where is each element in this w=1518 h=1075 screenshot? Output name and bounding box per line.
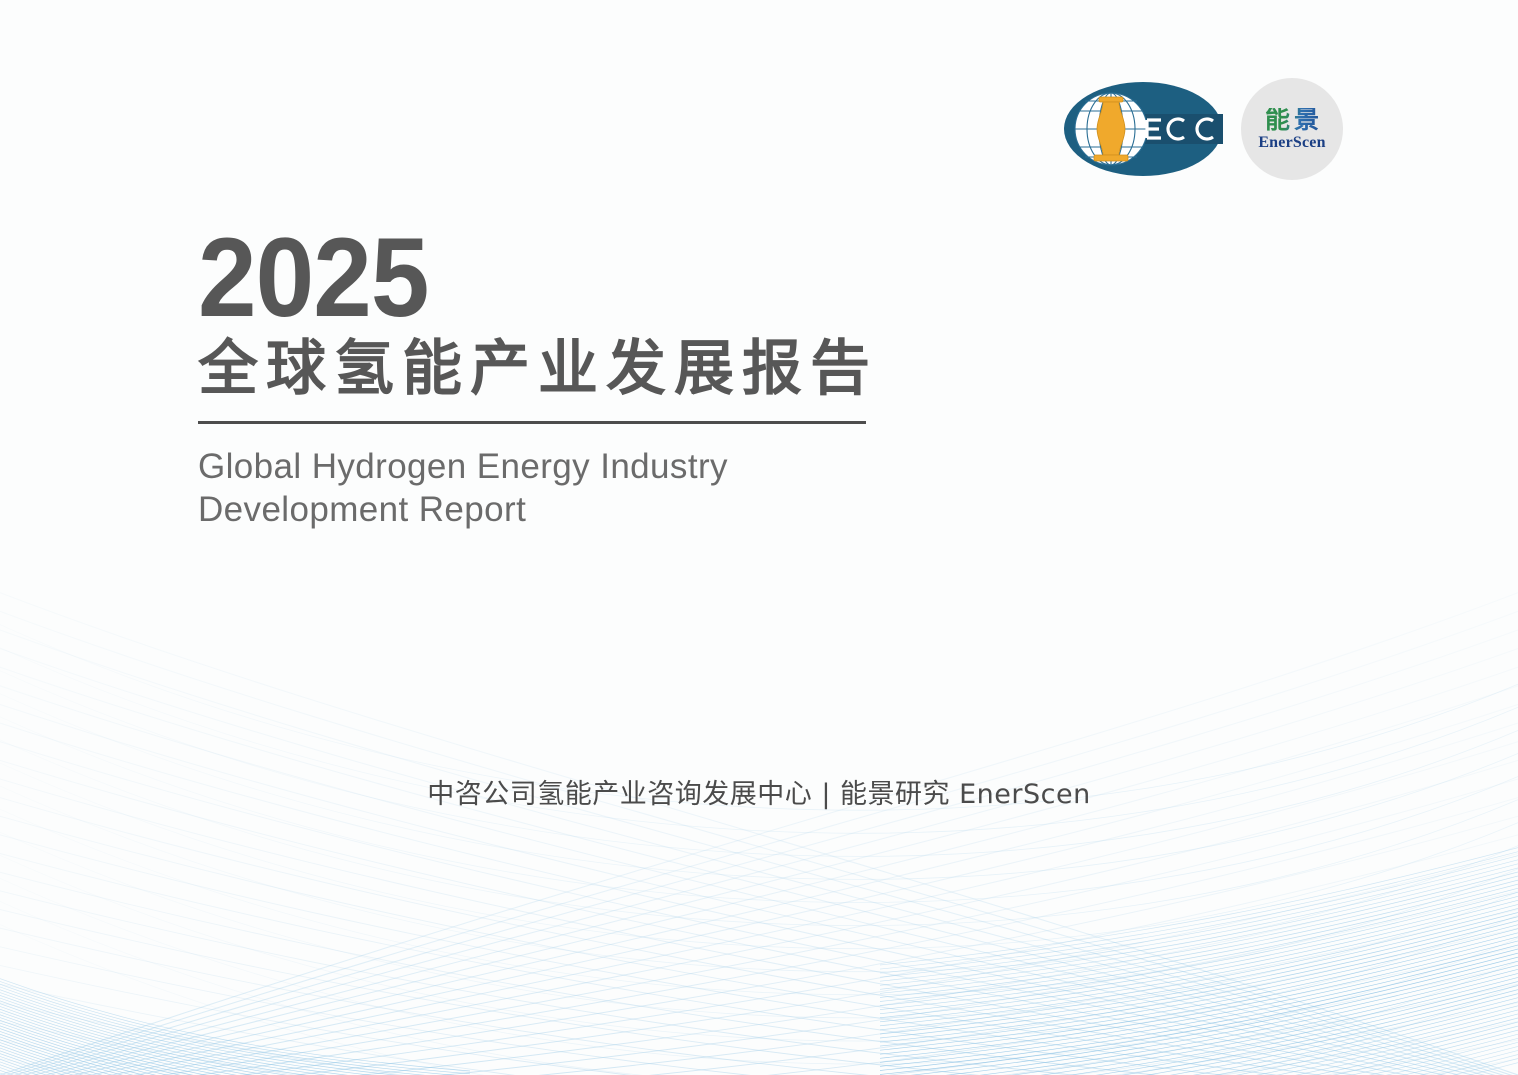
enerscen-english-name: EnerScen (1258, 135, 1325, 151)
ecc-logo (1063, 81, 1223, 177)
publisher-attribution: 中咨公司氢能产业咨询发展中心 | 能景研究 EnerScen (0, 772, 1518, 811)
enerscen-logo: 能景 EnerScen (1241, 78, 1343, 180)
enerscen-chinese-name: 能景 (1261, 108, 1323, 133)
globe-icon (1075, 93, 1147, 165)
report-cover-page: 能景 EnerScen 2025 全球氢能产业发展报告 Global Hydro… (0, 0, 1518, 1075)
headline-block: 2025 全球氢能产业发展报告 Global Hydrogen Energy I… (198, 226, 1158, 531)
report-title-english: Global Hydrogen Energy Industry Developm… (198, 446, 758, 531)
report-year: 2025 (198, 226, 1100, 329)
logo-row: 能景 EnerScen (1063, 78, 1343, 180)
report-title-chinese: 全球氢能产业发展报告 (198, 337, 1158, 402)
title-divider-rule (198, 421, 866, 424)
